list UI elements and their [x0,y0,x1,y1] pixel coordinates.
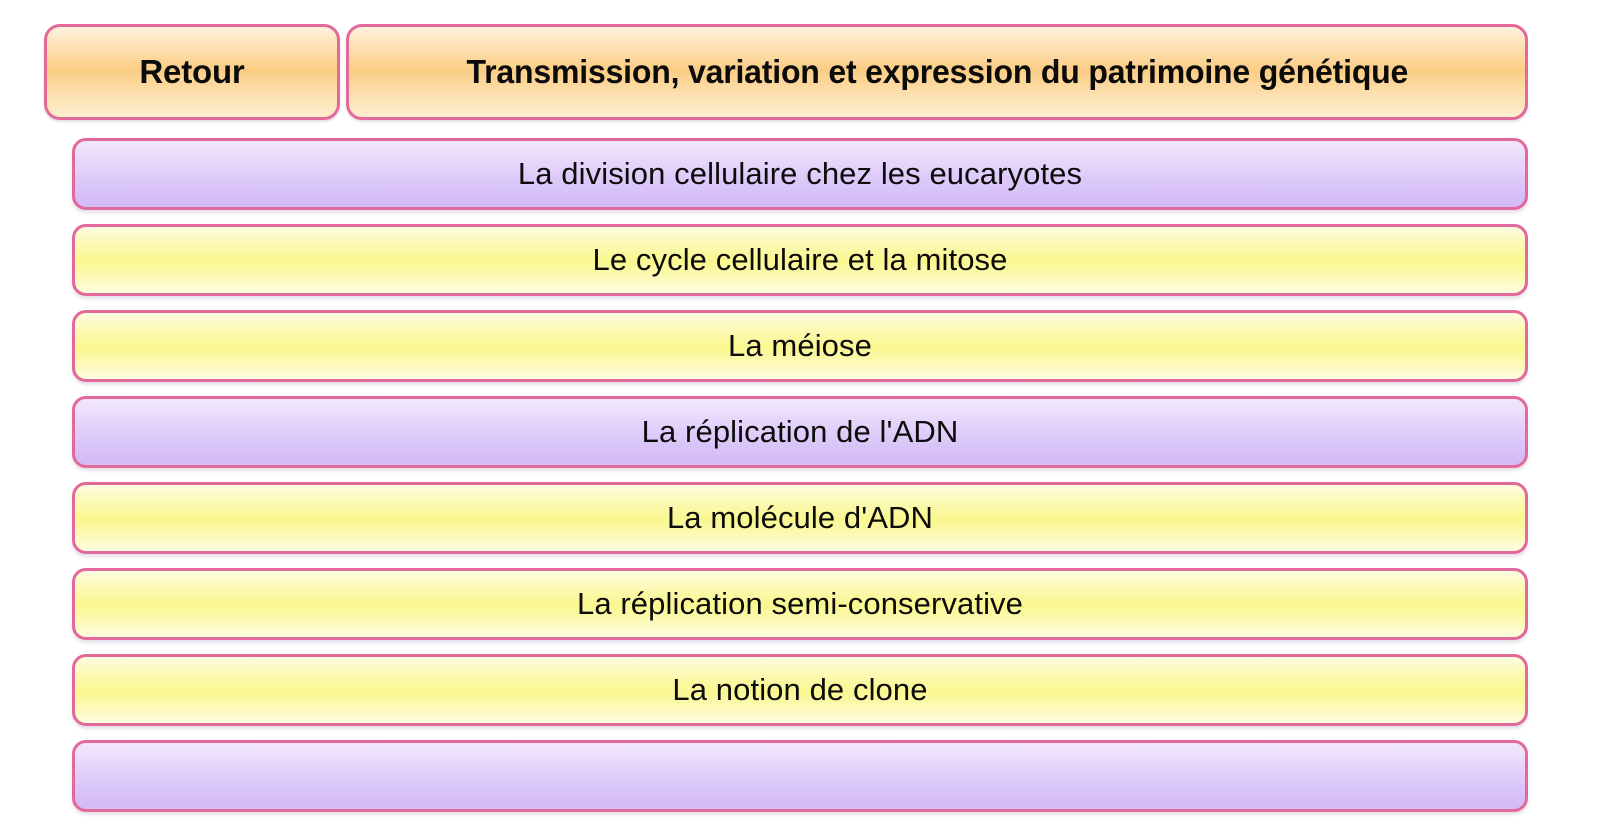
list-item[interactable]: La molécule d'ADN [72,482,1528,554]
list-item-label: Le cycle cellulaire et la mitose [593,242,1008,278]
list-item[interactable]: Le cycle cellulaire et la mitose [72,224,1528,296]
list-item-label: La notion de clone [672,672,927,708]
page-title-bar: Transmission, variation et expression du… [346,24,1528,120]
list-item-label: La réplication de l'ADN [642,414,959,450]
page-root: Retour Transmission, variation et expres… [0,0,1600,800]
list-item[interactable]: La division cellulaire chez les eucaryot… [72,138,1528,210]
header: Retour Transmission, variation et expres… [44,24,1528,120]
list-item[interactable]: La réplication de l'ADN [72,396,1528,468]
list-item-label: La division cellulaire chez les eucaryot… [518,156,1082,192]
list-item[interactable]: La réplication semi-conservative [72,568,1528,640]
chapter-list: La division cellulaire chez les eucaryot… [72,138,1528,826]
back-button-label: Retour [139,53,244,91]
back-button[interactable]: Retour [44,24,340,120]
page-title: Transmission, variation et expression du… [466,53,1408,91]
list-item[interactable]: La notion de clone [72,654,1528,726]
list-item[interactable] [72,740,1528,812]
list-item-label: La molécule d'ADN [667,500,933,536]
list-item-label: La méiose [728,328,872,364]
list-item[interactable]: La méiose [72,310,1528,382]
list-item-label: La réplication semi-conservative [577,586,1023,622]
